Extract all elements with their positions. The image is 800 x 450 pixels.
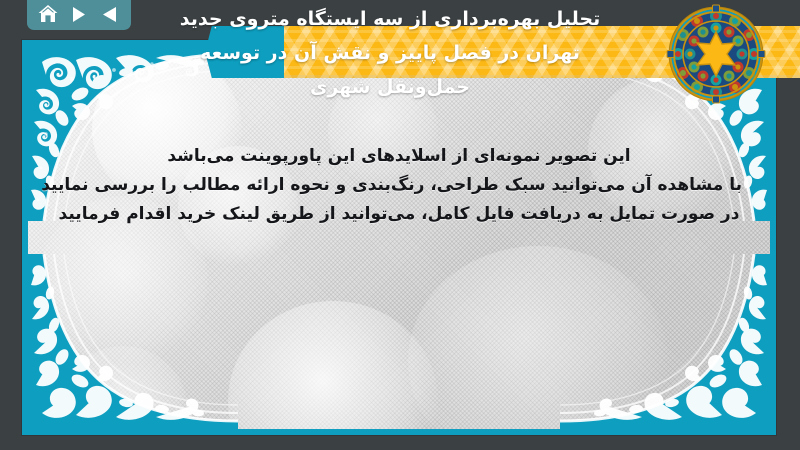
- home-button[interactable]: [36, 3, 60, 25]
- slide-viewer: این تصویر نمونه‌ای از اسلایدهای این پاور…: [0, 0, 800, 450]
- triangle-right-icon: [72, 6, 86, 23]
- bokeh-circle: [408, 246, 668, 429]
- triangle-left-icon: [102, 6, 118, 23]
- next-slide-button[interactable]: [67, 3, 91, 25]
- bokeh-circle: [58, 346, 188, 429]
- slide-content-panel: این تصویر نمونه‌ای از اسلایدهای این پاور…: [28, 46, 770, 429]
- body-line-3: در صورت تمایل به دریافت فایل کامل، می‌تو…: [56, 200, 742, 229]
- arabesque-corner-icon: [560, 254, 770, 429]
- arabesque-corner-icon: [28, 254, 238, 429]
- slide-navigation-bar[interactable]: [27, 0, 131, 30]
- body-line-1: این تصویر نمونه‌ای از اسلایدهای این پاور…: [56, 142, 742, 171]
- persian-medallion-icon: [664, 2, 768, 106]
- ribbon-tail-icon: [205, 26, 290, 78]
- body-line-2: با مشاهده آن می‌توانید سبک طراحی، رنگ‌بن…: [56, 171, 742, 200]
- bokeh-circle: [228, 301, 438, 429]
- slide-body-text: این تصویر نمونه‌ای از اسلایدهای این پاور…: [28, 142, 770, 229]
- home-icon: [38, 5, 58, 23]
- previous-slide-button[interactable]: [98, 3, 122, 25]
